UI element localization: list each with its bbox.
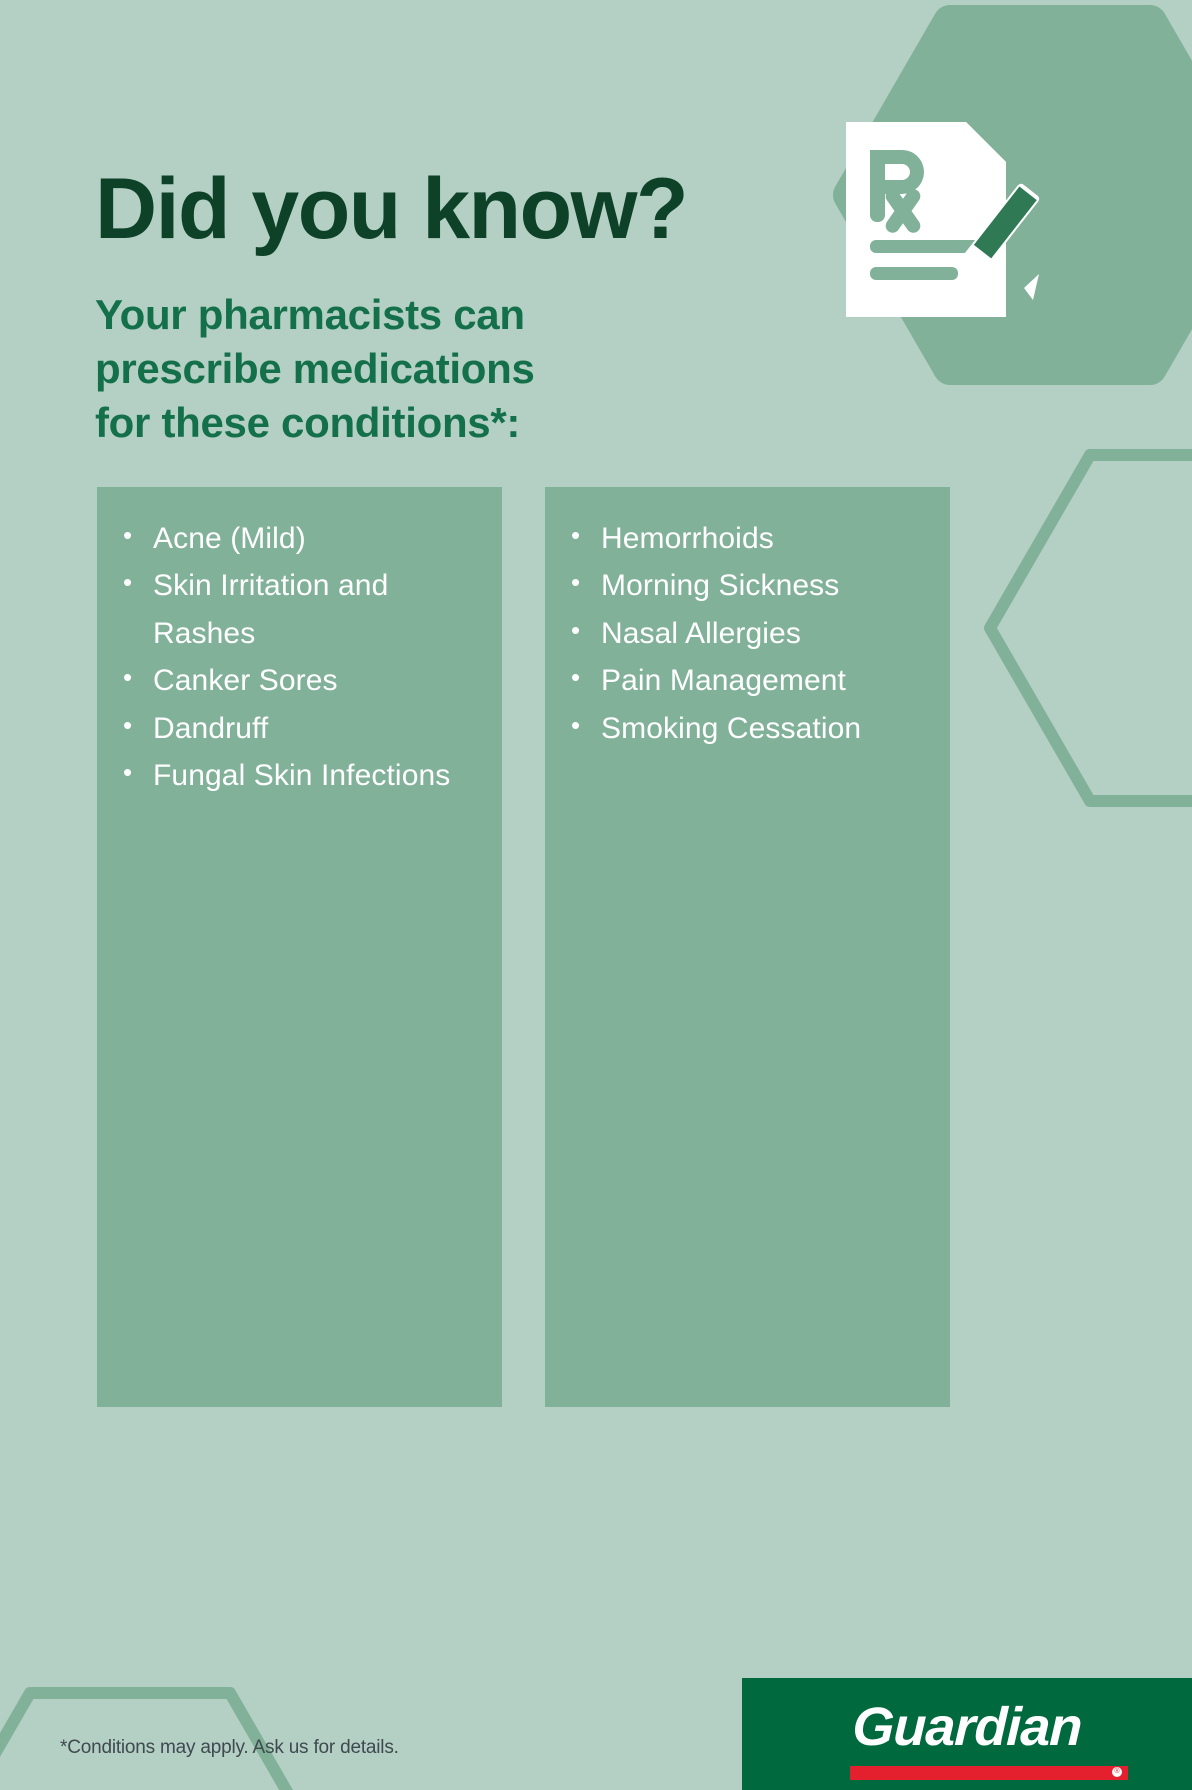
hexagon-outline-decoration-right <box>990 455 1192 801</box>
list-item: Morning Sickness <box>571 562 924 609</box>
list-item: Skin Irritation and Rashes <box>123 562 476 657</box>
list-item: Canker Sores <box>123 657 476 704</box>
list-item: Fungal Skin Infections <box>123 752 476 799</box>
conditions-list-left: Acne (Mild) Skin Irritation and Rashes C… <box>123 515 476 799</box>
subheading-line-3: for these conditions*: <box>95 396 535 450</box>
subheading: Your pharmacists can prescribe medicatio… <box>95 288 535 449</box>
guardian-logo: Guardian ® <box>742 1678 1192 1790</box>
subheading-line-2: prescribe medications <box>95 342 535 396</box>
logo-red-bar <box>850 1766 1128 1780</box>
list-item: Dandruff <box>123 705 476 752</box>
conditions-panel-left: Acne (Mild) Skin Irritation and Rashes C… <box>97 487 502 1407</box>
list-item: Pain Management <box>571 657 924 704</box>
guardian-wordmark: Guardian <box>741 1700 1192 1754</box>
list-item: Acne (Mild) <box>123 515 476 562</box>
page-title: Did you know? <box>95 166 687 252</box>
list-item: Hemorrhoids <box>571 515 924 562</box>
conditions-panel-right: Hemorrhoids Morning Sickness Nasal Aller… <box>545 487 950 1407</box>
list-item: Nasal Allergies <box>571 610 924 657</box>
rx-prescription-document-icon <box>838 112 1048 327</box>
registered-trademark-icon: ® <box>1112 1767 1122 1777</box>
list-item: Smoking Cessation <box>571 705 924 752</box>
conditions-list-right: Hemorrhoids Morning Sickness Nasal Aller… <box>571 515 924 752</box>
poster-canvas: Did you know? Your pharmacists can presc… <box>0 0 1192 1790</box>
footnote-disclaimer: *Conditions may apply. Ask us for detail… <box>60 1737 399 1759</box>
subheading-line-1: Your pharmacists can <box>95 288 535 342</box>
